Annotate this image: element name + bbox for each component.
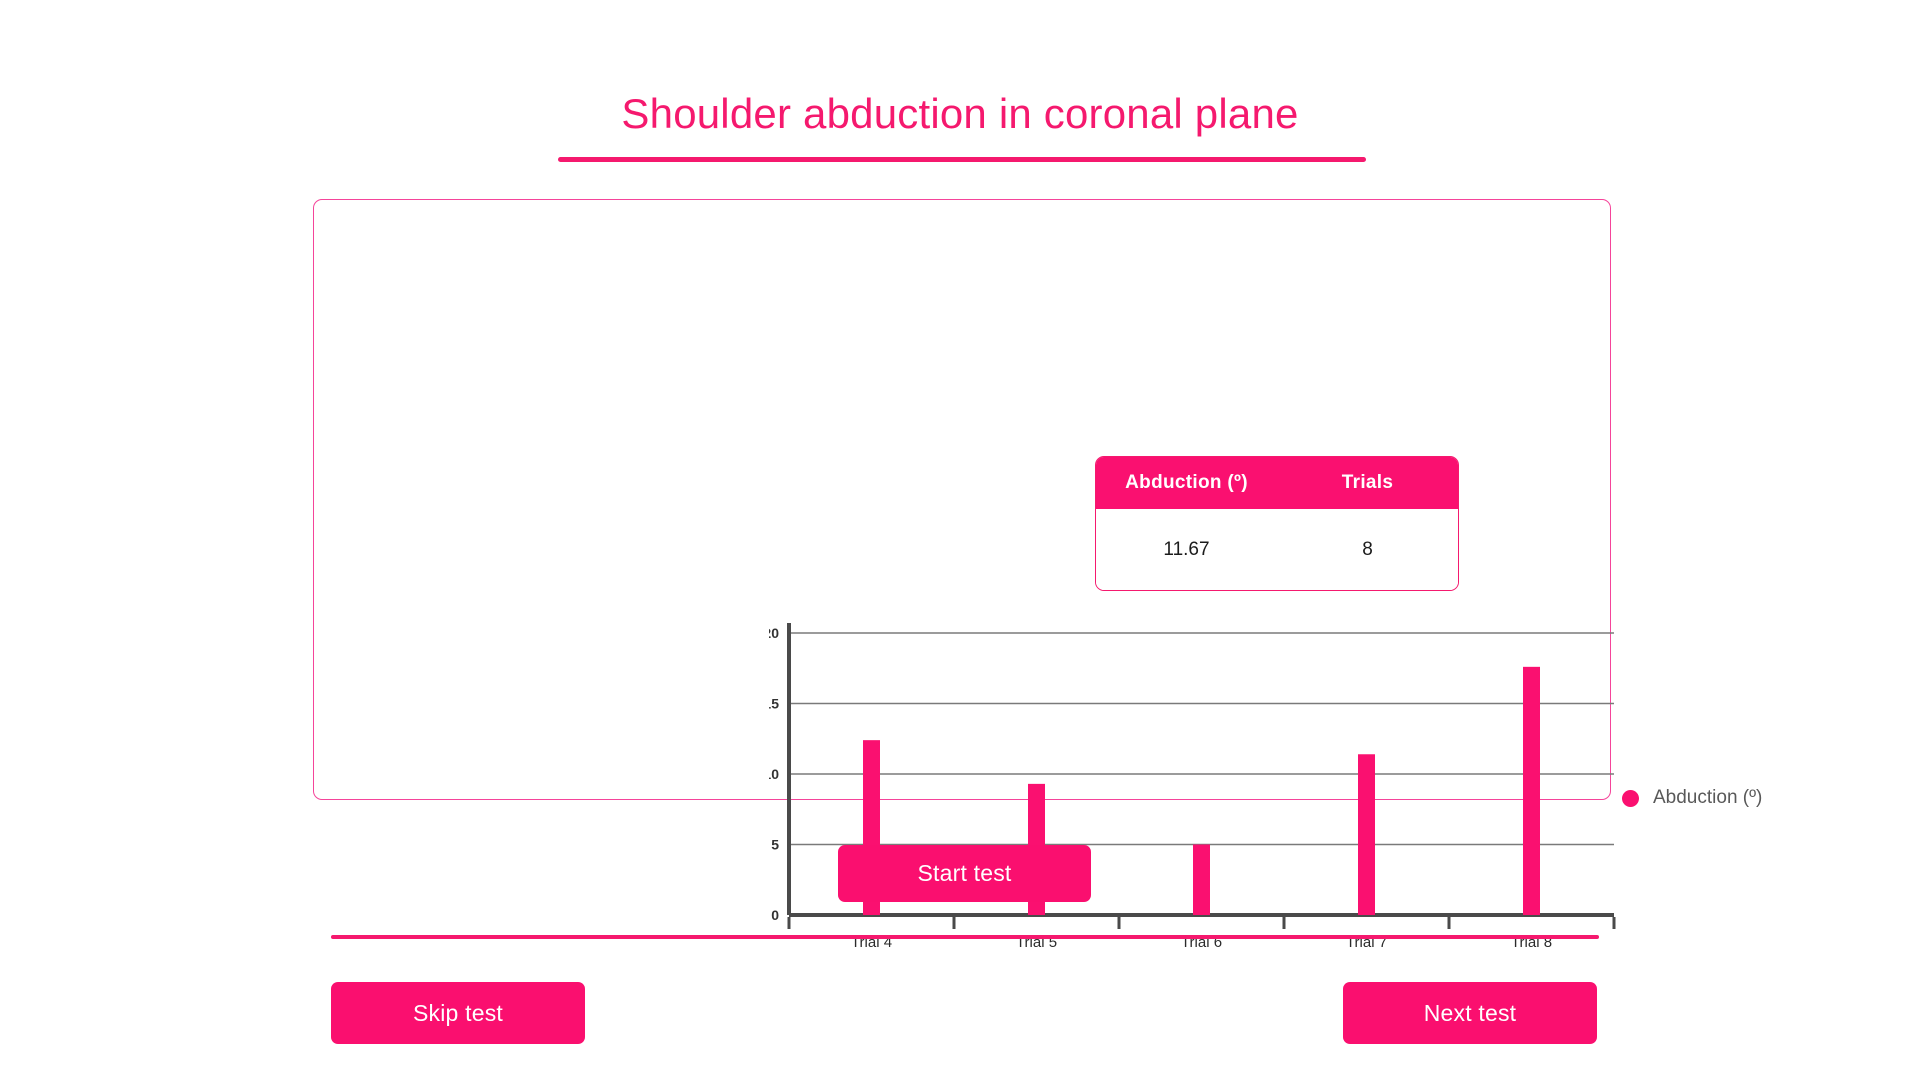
title-underline: [558, 157, 1366, 162]
chart-canvas: 05101520Trial 4Trial 5Trial 6Trial 7Tria…: [769, 615, 1649, 975]
cell-abduction-value: 11.67: [1096, 539, 1277, 561]
bar-trial-6: [1193, 845, 1210, 916]
y-axis-tick-label: 15: [769, 696, 779, 712]
y-axis-tick-label: 10: [769, 766, 779, 782]
skip-test-button[interactable]: Skip test: [331, 982, 585, 1044]
start-test-button[interactable]: Start test: [838, 845, 1091, 902]
table-row: 11.67 8: [1096, 509, 1458, 590]
chart-legend: Abduction (º): [1622, 787, 1762, 809]
next-test-button[interactable]: Next test: [1343, 982, 1597, 1044]
y-axis-tick-label: 0: [771, 907, 779, 923]
legend-marker-icon: [1622, 790, 1639, 807]
bar-trial-7: [1358, 754, 1375, 915]
page-title: Shoulder abduction in coronal plane: [0, 90, 1920, 138]
column-header-abduction: Abduction (º): [1096, 472, 1277, 494]
column-header-trials: Trials: [1277, 472, 1458, 494]
abduction-bar-chart: 05101520Trial 4Trial 5Trial 6Trial 7Tria…: [769, 615, 1649, 975]
test-result-card: Abduction (º) Trials 11.67 8 05101520Tri…: [313, 199, 1611, 800]
bar-trial-8: [1523, 667, 1540, 915]
table-header-row: Abduction (º) Trials: [1096, 457, 1458, 509]
cell-trials-value: 8: [1277, 539, 1458, 561]
y-axis-tick-label: 5: [771, 837, 779, 853]
app-root: Shoulder abduction in coronal plane Abdu…: [0, 0, 1920, 1080]
result-summary-table: Abduction (º) Trials 11.67 8: [1095, 456, 1459, 591]
y-axis-tick-label: 20: [769, 625, 779, 641]
legend-item-label: Abduction (º): [1653, 787, 1762, 809]
section-divider: [331, 935, 1599, 939]
